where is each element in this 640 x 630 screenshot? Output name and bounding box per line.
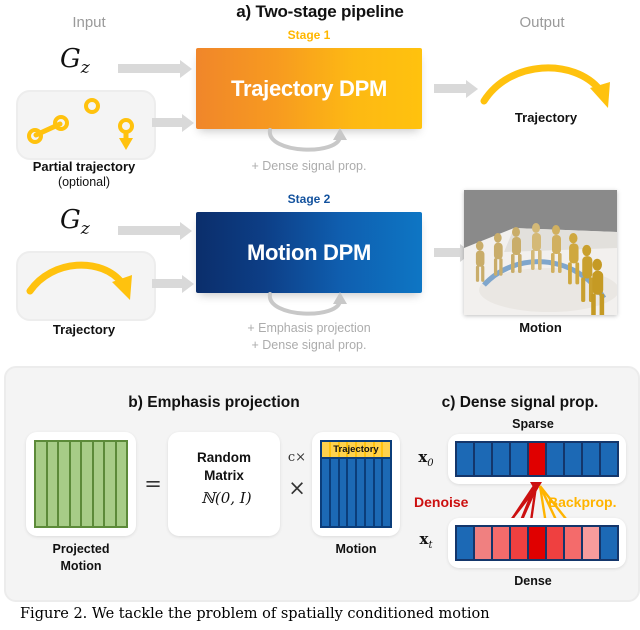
- signal-bar: [475, 527, 491, 559]
- panel-two-stage-pipeline: a) Two-stage pipeline Input Output Stage…: [0, 0, 640, 355]
- partial-trajectory-caption: Partial trajectory: [6, 159, 162, 174]
- signal-bar: [457, 527, 473, 559]
- gz-symbol-2: G: [60, 205, 81, 235]
- signal-bar: [565, 443, 581, 475]
- stage2-note-line1: + Emphasis projection: [188, 320, 430, 337]
- projected-motion-card[interactable]: [26, 432, 136, 536]
- gaussian-noise-stage1: Gz: [60, 44, 90, 78]
- panel-emphasis-projection: b) Emphasis projection Projected Motion …: [8, 372, 400, 594]
- input-label: Input: [24, 14, 154, 31]
- motion-bars: [322, 459, 390, 526]
- output-label: Output: [462, 14, 622, 31]
- signal-bar: [529, 443, 545, 475]
- gz-subscript: z: [81, 58, 90, 78]
- sparse-row-card[interactable]: [448, 434, 626, 484]
- arrow-noise-to-stage2: [118, 226, 180, 235]
- equals-symbol: =: [140, 472, 166, 496]
- trajectory-input-caption: Trajectory: [6, 322, 162, 337]
- x0-symbol: x: [418, 448, 427, 466]
- x0-label: x0: [408, 448, 444, 469]
- dense-row-card[interactable]: [448, 518, 626, 568]
- backprop-label: Backprop.: [548, 494, 616, 510]
- signal-bar: [511, 443, 527, 475]
- panel-dense-signal-prop: c) Dense signal prop. Sparse x0: [400, 372, 636, 594]
- panel-c-title: c) Dense signal prop.: [404, 394, 636, 412]
- dense-label: Dense: [440, 574, 626, 588]
- signal-bar: [583, 527, 599, 559]
- gz-symbol: G: [60, 44, 81, 74]
- random-matrix-line1: Random: [168, 449, 280, 467]
- stage-1-label: Stage 1: [196, 28, 422, 42]
- random-matrix-card[interactable]: Random Matrix ℕ(0, I): [168, 432, 280, 536]
- gaussian-noise-stage2: Gz: [60, 205, 90, 239]
- trajectory-dpm-box[interactable]: Trajectory DPM: [196, 48, 422, 129]
- random-matrix-line2: Matrix: [168, 467, 280, 485]
- xt-label: xt: [408, 530, 444, 551]
- panel-b-title: b) Emphasis projection: [28, 394, 400, 412]
- trajectory-strip: Trajectory: [322, 442, 390, 457]
- projected-motion-caption-line2: Motion: [18, 559, 144, 573]
- motion-matrix-caption: Motion: [308, 542, 404, 556]
- denoise-label: Denoise: [414, 494, 468, 510]
- signal-bar: [493, 527, 509, 559]
- gz-subscript-2: z: [81, 219, 90, 239]
- arrow-stage2-to-motion: [434, 248, 460, 257]
- stage-2-label: Stage 2: [196, 192, 422, 206]
- arrow-stage1-to-trajectory: [434, 84, 466, 93]
- arrow-noise-to-stage1: [118, 64, 180, 73]
- trajectory-strip-label: Trajectory: [322, 442, 390, 457]
- motion-output-caption: Motion: [464, 320, 617, 335]
- partial-trajectory-card[interactable]: [16, 90, 156, 160]
- dense-bars: [455, 525, 619, 561]
- trajectory-dpm-label: Trajectory DPM: [196, 48, 422, 129]
- trajectory-input-icon: [18, 253, 150, 315]
- trajectory-input-card[interactable]: [16, 251, 156, 321]
- signal-bar: [565, 527, 581, 559]
- projected-motion-grid: [34, 440, 128, 528]
- projected-motion-caption-line1: Projected: [18, 542, 144, 556]
- motion-dpm-box[interactable]: Motion DPM: [196, 212, 422, 293]
- signal-bar: [529, 527, 545, 559]
- motion-matrix-card[interactable]: Trajectory: [312, 432, 400, 536]
- scale-symbol: c×: [284, 450, 310, 465]
- signal-bar: [547, 527, 563, 559]
- sparse-label: Sparse: [440, 417, 626, 431]
- signal-bar: [475, 443, 491, 475]
- signal-bar: [511, 527, 527, 559]
- trajectory-output-caption: Trajectory: [466, 110, 626, 125]
- stage2-note-line2: + Dense signal prop.: [188, 337, 430, 354]
- partial-trajectory-optional: (optional): [6, 175, 162, 189]
- arrow-trajectory-to-stage2: [152, 279, 182, 288]
- partial-trajectory-icon: [18, 92, 150, 154]
- motion-dpm-label: Motion DPM: [196, 212, 422, 293]
- signal-bar: [457, 443, 473, 475]
- signal-bar: [601, 443, 617, 475]
- panel-a-title: a) Two-stage pipeline: [140, 2, 500, 22]
- signal-bar: [493, 443, 509, 475]
- stage1-note: + Dense signal prop.: [198, 158, 420, 175]
- motion-render-image: [464, 190, 617, 315]
- motion-matrix-block: Trajectory: [320, 440, 392, 528]
- figure-caption: Figure 2. We tackle the problem of spati…: [20, 606, 620, 622]
- xt-subscript: t: [428, 540, 432, 551]
- sparse-bars: [455, 441, 619, 477]
- signal-bar: [601, 527, 617, 559]
- times-symbol: ×: [284, 476, 310, 500]
- signal-bar: [583, 443, 599, 475]
- x0-subscript: 0: [427, 458, 433, 469]
- arrow-partial-to-stage1: [152, 118, 182, 127]
- random-matrix-distribution: ℕ(0, I): [168, 489, 280, 507]
- signal-bar: [547, 443, 563, 475]
